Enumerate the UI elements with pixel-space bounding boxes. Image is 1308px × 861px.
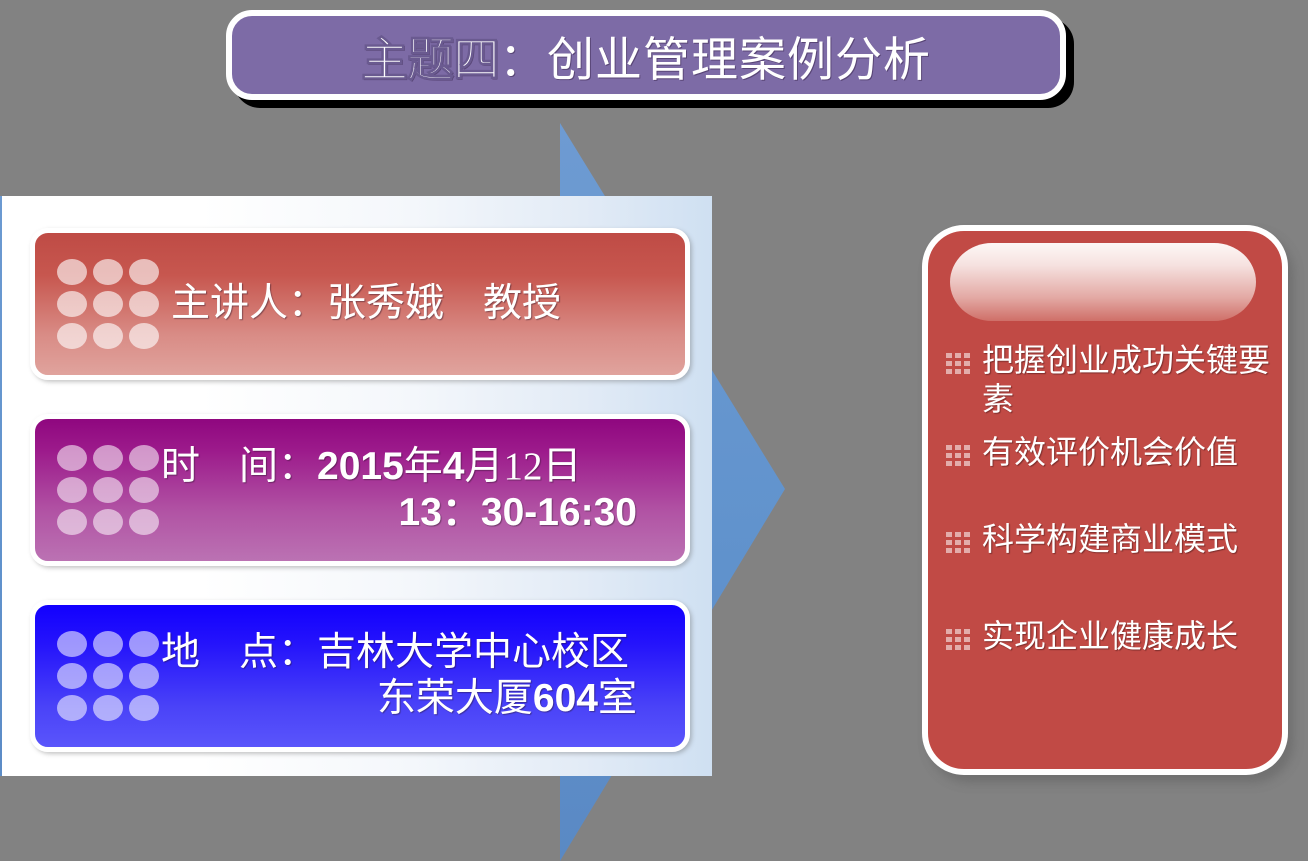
info-card-place-text: 地 点：吉林大学中心校区 东荣大厦604室 — [161, 630, 685, 722]
list-item-label: 科学构建商业模式 — [982, 520, 1238, 559]
list-item[interactable]: 科学构建商业模式 — [946, 520, 1274, 559]
place-label: 地 点： — [161, 631, 317, 674]
page-title-prefix: 主题四 — [361, 33, 499, 88]
list-item-label: 有效评价机会价值 — [982, 433, 1238, 472]
info-card-time-text: 时 间：2015年4月12日 13：30-16:30 — [161, 444, 685, 536]
title-banner: 主题四：创业管理案例分析 — [226, 10, 1066, 100]
dot-grid-bullet-icon — [946, 629, 968, 651]
time-month: 4 — [443, 445, 465, 488]
place-line-1: 地 点：吉林大学中心校区 — [161, 630, 659, 676]
place-value: 吉林大学中心校区 — [317, 631, 629, 674]
right-outcomes-panel[interactable]: 把握创业成功关键要素 有效评价机会价值 科学构建商业模式 实现企业健康成长 — [922, 225, 1288, 775]
place-line-2: 东荣大厦604室 — [161, 676, 659, 722]
page-title-main: 创业管理案例分析 — [547, 35, 931, 87]
outcomes-list: 把握创业成功关键要素 有效评价机会价值 科学构建商业模式 实现企业健康成长 — [946, 341, 1274, 678]
info-card-place[interactable]: 地 点：吉林大学中心校区 东荣大厦604室 — [30, 600, 690, 752]
list-item[interactable]: 有效评价机会价值 — [946, 433, 1274, 472]
speaker-line-1: 主讲人：张秀娥 教授 — [161, 281, 659, 327]
dot-grid-bullet-icon — [946, 353, 968, 375]
time-day-unit: 日 — [543, 445, 582, 488]
slide-canvas: 主题四：创业管理案例分析 主讲人：张秀娥 教授 时 间：2015年4月12日 1 — [0, 0, 1308, 861]
info-card-speaker-text: 主讲人：张秀娥 教授 — [161, 281, 685, 327]
page-title: 主题四：创业管理案例分析 — [361, 21, 931, 90]
dot-grid-icon — [57, 630, 161, 722]
place-room-number: 604 — [533, 677, 598, 720]
info-card-speaker[interactable]: 主讲人：张秀娥 教授 — [30, 228, 690, 380]
time-line-1: 时 间：2015年4月12日 — [161, 444, 659, 490]
place-room-suffix: 室 — [598, 677, 637, 720]
dot-grid-icon — [57, 444, 161, 536]
info-card-time[interactable]: 时 间：2015年4月12日 13：30-16:30 — [30, 414, 690, 566]
page-title-separator: ： — [499, 35, 547, 87]
list-item-label: 把握创业成功关键要素 — [982, 341, 1274, 419]
panel-gloss-highlight — [950, 243, 1256, 321]
dot-grid-icon — [57, 258, 161, 350]
time-day: 12 — [504, 445, 543, 488]
list-item-label: 实现企业健康成长 — [982, 617, 1238, 656]
dot-grid-bullet-icon — [946, 445, 968, 467]
dot-grid-bullet-icon — [946, 532, 968, 554]
time-line-2: 13：30-16:30 — [161, 490, 659, 536]
time-month-unit: 月 — [465, 445, 504, 488]
time-year-unit: 年 — [404, 445, 443, 488]
place-building: 东荣大厦 — [377, 677, 533, 720]
list-item[interactable]: 把握创业成功关键要素 — [946, 341, 1274, 419]
time-label: 时 间： — [161, 445, 317, 488]
list-item[interactable]: 实现企业健康成长 — [946, 617, 1274, 656]
time-year: 2015 — [317, 445, 404, 488]
